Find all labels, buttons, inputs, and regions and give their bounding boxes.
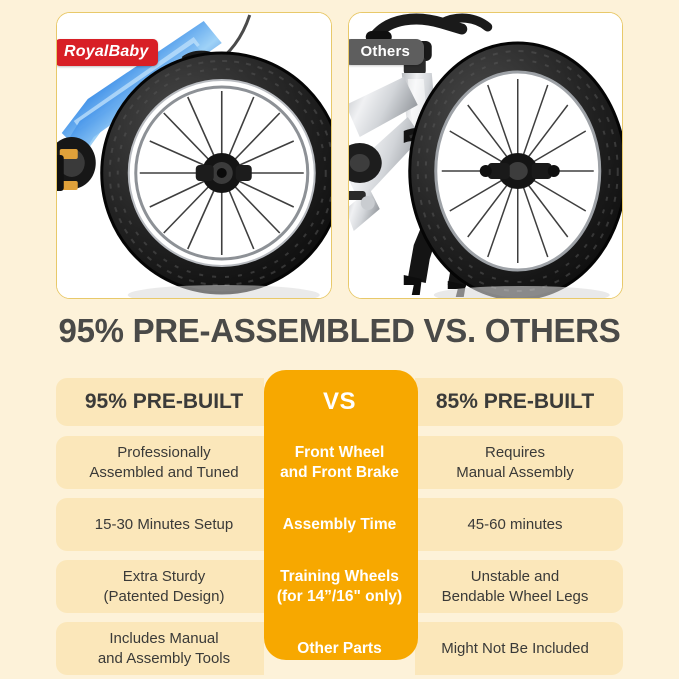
row-text-line1: Requires — [456, 443, 574, 462]
feature-text-line2: and Front Brake — [280, 463, 399, 482]
feature-text-line1: Training Wheels — [277, 567, 402, 586]
table-row: Extra Sturdy (Patented Design) Training … — [56, 560, 623, 613]
row-text-line2: Assembled and Tuned — [89, 463, 238, 482]
comparison-table: 95% PRE-BUILT VS 85% PRE-BUILT Professio… — [56, 378, 623, 660]
row-text-line1: Includes Manual — [98, 629, 230, 648]
row-text-line1: Might Not Be Included — [441, 639, 589, 658]
row-text-line2: (Patented Design) — [104, 587, 225, 606]
photo-comparison-strip: RoyalBaby — [0, 0, 679, 305]
row-text-line1: Unstable and — [442, 567, 589, 586]
row-cell-royalbaby: Includes Manual and Assembly Tools — [56, 622, 264, 675]
row-cell-feature: Assembly Time — [264, 498, 415, 551]
photo-card-others: Others — [348, 12, 624, 299]
row-cell-royalbaby: Professionally Assembled and Tuned — [56, 436, 264, 489]
royalbaby-logo-badge: RoyalBaby — [56, 39, 158, 66]
header-cell-others: 85% PRE-BUILT — [415, 378, 623, 426]
feature-text-line1: Front Wheel — [280, 443, 399, 462]
row-cell-feature: Other Parts — [264, 622, 415, 675]
row-text-line1: Extra Sturdy — [104, 567, 225, 586]
header-cell-royalbaby: 95% PRE-BUILT — [56, 378, 264, 426]
page-title: 95% PRE-ASSEMBLED VS. OTHERS — [0, 312, 679, 350]
row-cell-others: Unstable and Bendable Wheel Legs — [415, 560, 623, 613]
row-text-line2: Manual Assembly — [456, 463, 574, 482]
row-text-line1: 45-60 minutes — [467, 515, 562, 534]
table-row: 15-30 Minutes Setup Assembly Time 45-60 … — [56, 498, 623, 551]
row-cell-others: Might Not Be Included — [415, 622, 623, 675]
feature-text-line1: Other Parts — [297, 639, 381, 658]
feature-text-line2: (for 14”/16" only) — [277, 587, 402, 606]
table-row: Professionally Assembled and Tuned Front… — [56, 436, 623, 489]
row-cell-feature: Front Wheel and Front Brake — [264, 436, 415, 489]
row-text-line2: Bendable Wheel Legs — [442, 587, 589, 606]
table-row: Includes Manual and Assembly Tools Other… — [56, 622, 623, 675]
row-cell-others: 45-60 minutes — [415, 498, 623, 551]
row-cell-royalbaby: 15-30 Minutes Setup — [56, 498, 264, 551]
row-cell-feature: Training Wheels (for 14”/16" only) — [264, 560, 415, 613]
header-cell-vs: VS — [264, 378, 415, 426]
photo-card-royalbaby: RoyalBaby — [56, 12, 332, 299]
row-cell-others: Requires Manual Assembly — [415, 436, 623, 489]
row-text-line2: and Assembly Tools — [98, 649, 230, 668]
row-cell-royalbaby: Extra Sturdy (Patented Design) — [56, 560, 264, 613]
table-header-row: 95% PRE-BUILT VS 85% PRE-BUILT — [56, 378, 623, 426]
feature-text-line1: Assembly Time — [283, 515, 396, 534]
others-label-badge: Others — [348, 39, 425, 65]
row-text-line1: 15-30 Minutes Setup — [95, 515, 233, 534]
row-text-line1: Professionally — [89, 443, 238, 462]
